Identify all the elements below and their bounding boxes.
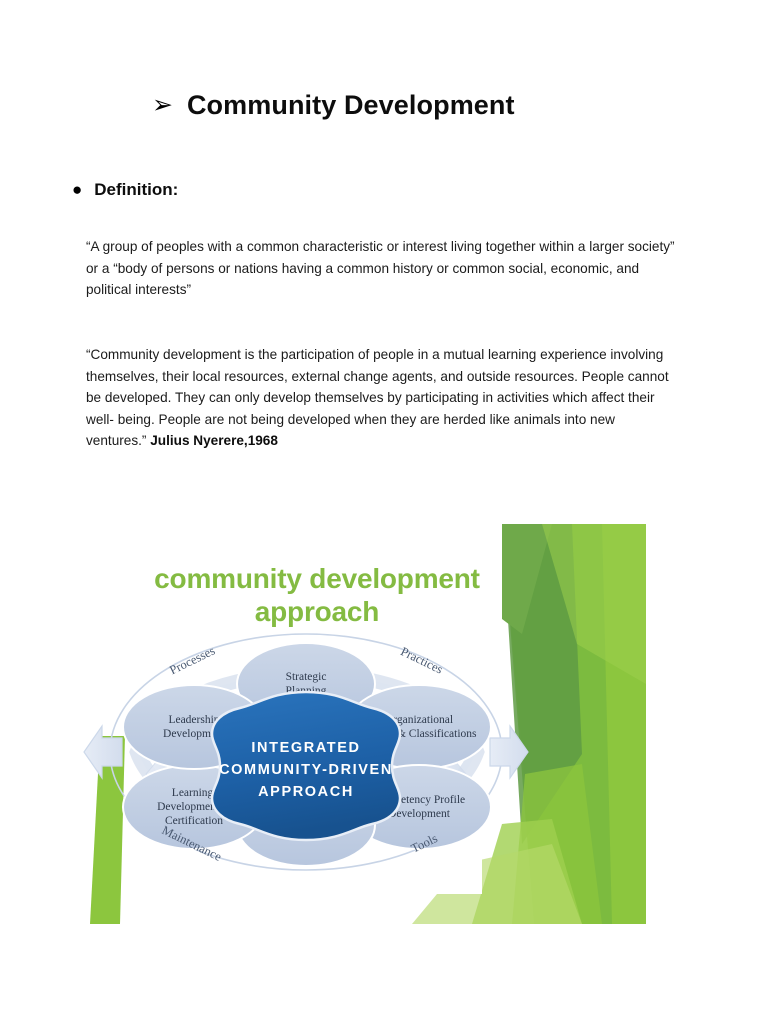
node-leadership-development-line1: Leadership	[168, 714, 219, 726]
node-learning-development-line3: Certification	[165, 815, 223, 827]
center-line-3: APPROACH	[258, 784, 354, 800]
figure-title-line-1: community development	[82, 562, 552, 595]
node-strategic-planning-line1: Strategic	[286, 671, 327, 683]
figure-title-line-2: approach	[82, 595, 552, 628]
definition-paragraph-2: “Community development is the participat…	[86, 344, 676, 452]
document-page: ➢ Community Development ● Definition: “A…	[0, 0, 768, 1024]
page-title-text: Community Development	[187, 90, 515, 121]
arrow-bullet-icon: ➢	[152, 93, 173, 118]
center-line-2: COMMUNITY-DRIVEN	[219, 762, 393, 778]
definition-paragraph-1: “A group of peoples with a common charac…	[86, 236, 676, 301]
community-development-approach-figure: Strategic Planning Organizational Design…	[82, 524, 646, 924]
round-bullet-icon: ●	[72, 181, 82, 198]
figure-title: community development approach	[82, 562, 552, 628]
center-integrated-approach: INTEGRATED COMMUNITY-DRIVEN APPROACH	[212, 692, 400, 840]
node-learning-development-line1: Learning,	[172, 787, 217, 799]
quote-attribution: Julius Nyerere,1968	[150, 433, 278, 448]
page-title: ➢ Community Development	[152, 90, 515, 121]
definition-label: Definition:	[94, 180, 178, 200]
definition-heading: ● Definition:	[72, 180, 178, 200]
center-line-1: INTEGRATED	[251, 740, 360, 756]
